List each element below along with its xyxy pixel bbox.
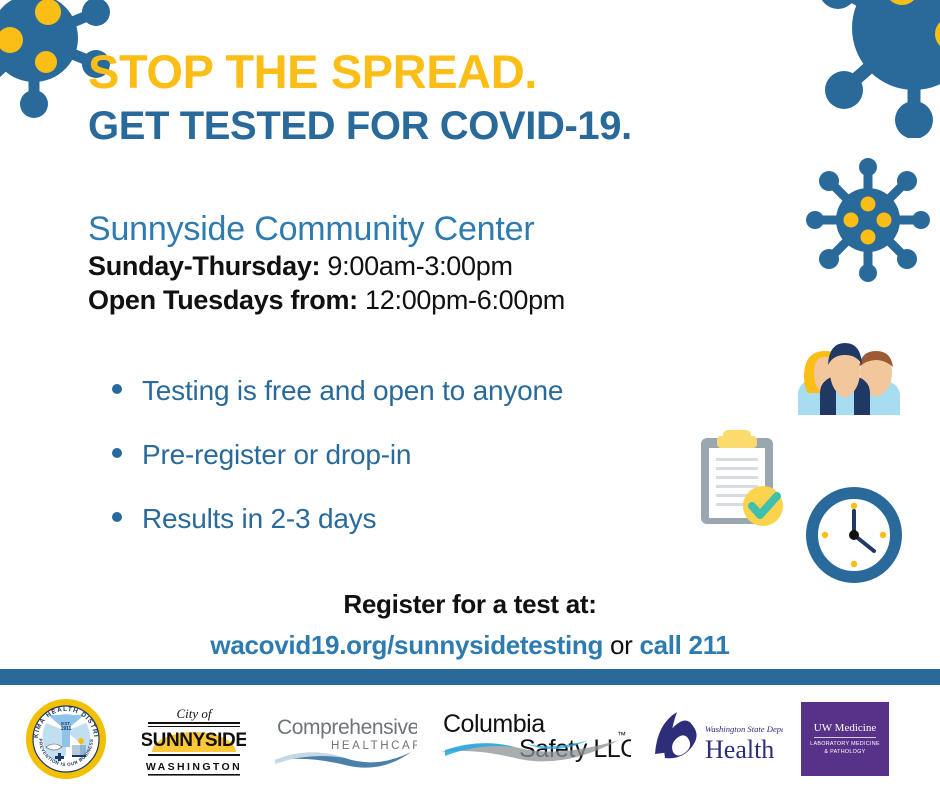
clipboard-check-icon bbox=[697, 426, 793, 526]
list-item-label: Testing is free and open to anyone bbox=[142, 375, 563, 407]
register-heading: Register for a test at: bbox=[0, 588, 940, 622]
svg-text:Columbia: Columbia bbox=[443, 710, 545, 738]
uw-medicine-sub-1: LABORATORY MEDICINE bbox=[810, 741, 880, 748]
virus-particle-icon bbox=[806, 158, 930, 282]
register-conjunction: or bbox=[603, 630, 639, 660]
register-block: Register for a test at: wacovid19.org/su… bbox=[0, 588, 940, 665]
svg-text:Washington State Department of: Washington State Department of bbox=[705, 724, 783, 734]
list-item: Results in 2-3 days bbox=[112, 503, 563, 535]
list-item-label: Results in 2-3 days bbox=[142, 503, 376, 535]
list-item: Pre-register or drop-in bbox=[112, 439, 563, 471]
clock-icon bbox=[806, 487, 902, 583]
uw-medicine-box: UW Medicine LABORATORY MEDICINE & PATHOL… bbox=[801, 702, 889, 776]
uw-medicine-sub-2: & PATHOLOGY bbox=[824, 749, 865, 756]
logo-columbia-safety: Columbia Safety LLC. ™ bbox=[428, 704, 633, 774]
svg-text:Comprehensive: Comprehensive bbox=[277, 716, 417, 739]
bullet-dot-icon bbox=[112, 384, 122, 394]
svg-text:1911: 1911 bbox=[61, 726, 72, 732]
divider-bar bbox=[0, 669, 940, 685]
three-people-icon bbox=[786, 333, 904, 415]
register-phone-link[interactable]: call 211 bbox=[639, 630, 729, 660]
svg-text:SUNNYSIDE: SUNNYSIDE bbox=[142, 730, 246, 751]
hours-value: 9:00am-3:00pm bbox=[320, 251, 512, 281]
hours-value: 12:00pm-6:00pm bbox=[358, 285, 565, 315]
headline-block: STOP THE SPREAD. GET TESTED FOR COVID-19… bbox=[88, 48, 632, 150]
register-url-link[interactable]: wacovid19.org/sunnysidetesting bbox=[210, 630, 603, 660]
partner-logo-bar: EST. 1911 YAKIMA HEALTH DISTRICT PREVENT… bbox=[0, 690, 940, 788]
hours-row: Sunday-Thursday: 9:00am-3:00pm bbox=[88, 249, 565, 283]
logo-uw-medicine: UW Medicine LABORATORY MEDICINE & PATHOL… bbox=[799, 702, 891, 776]
logo-comprehensive-healthcare: Comprehensive HEALTHCARE bbox=[268, 708, 418, 770]
list-item-label: Pre-register or drop-in bbox=[142, 439, 411, 471]
svg-text:Health: Health bbox=[705, 735, 774, 764]
logo-wa-dept-of-health: Washington State Department of Health bbox=[645, 708, 785, 770]
bullet-dot-icon bbox=[112, 448, 122, 458]
venue-name: Sunnyside Community Center bbox=[88, 209, 565, 249]
logo-city-of-sunnyside: City of SUNNYSIDE WASHINGTON bbox=[136, 701, 252, 777]
svg-text:WASHINGTON: WASHINGTON bbox=[146, 761, 242, 773]
uw-medicine-title: UW Medicine bbox=[814, 722, 876, 734]
hours-label: Sunday-Thursday: bbox=[88, 251, 320, 281]
register-contact: wacovid19.org/sunnysidetesting or call 2… bbox=[0, 626, 940, 665]
logo-yakima-health-district: EST. 1911 YAKIMA HEALTH DISTRICT PREVENT… bbox=[10, 697, 122, 781]
uw-divider bbox=[814, 737, 876, 738]
venue-block: Sunnyside Community Center Sunday-Thursd… bbox=[88, 209, 565, 318]
svg-text:HEALTHCARE: HEALTHCARE bbox=[331, 740, 417, 752]
svg-text:City of: City of bbox=[176, 706, 213, 721]
headline-line-2: GET TESTED FOR COVID-19. bbox=[88, 103, 632, 150]
bullet-dot-icon bbox=[112, 512, 122, 522]
svg-text:™: ™ bbox=[617, 730, 626, 740]
virus-particle-icon bbox=[806, 0, 940, 138]
bullet-list: Testing is free and open to anyone Pre-r… bbox=[112, 375, 563, 567]
hours-row: Open Tuesdays from: 12:00pm-6:00pm bbox=[88, 283, 565, 317]
headline-line-1: STOP THE SPREAD. bbox=[88, 48, 632, 97]
list-item: Testing is free and open to anyone bbox=[112, 375, 563, 407]
hours-label: Open Tuesdays from: bbox=[88, 285, 358, 315]
